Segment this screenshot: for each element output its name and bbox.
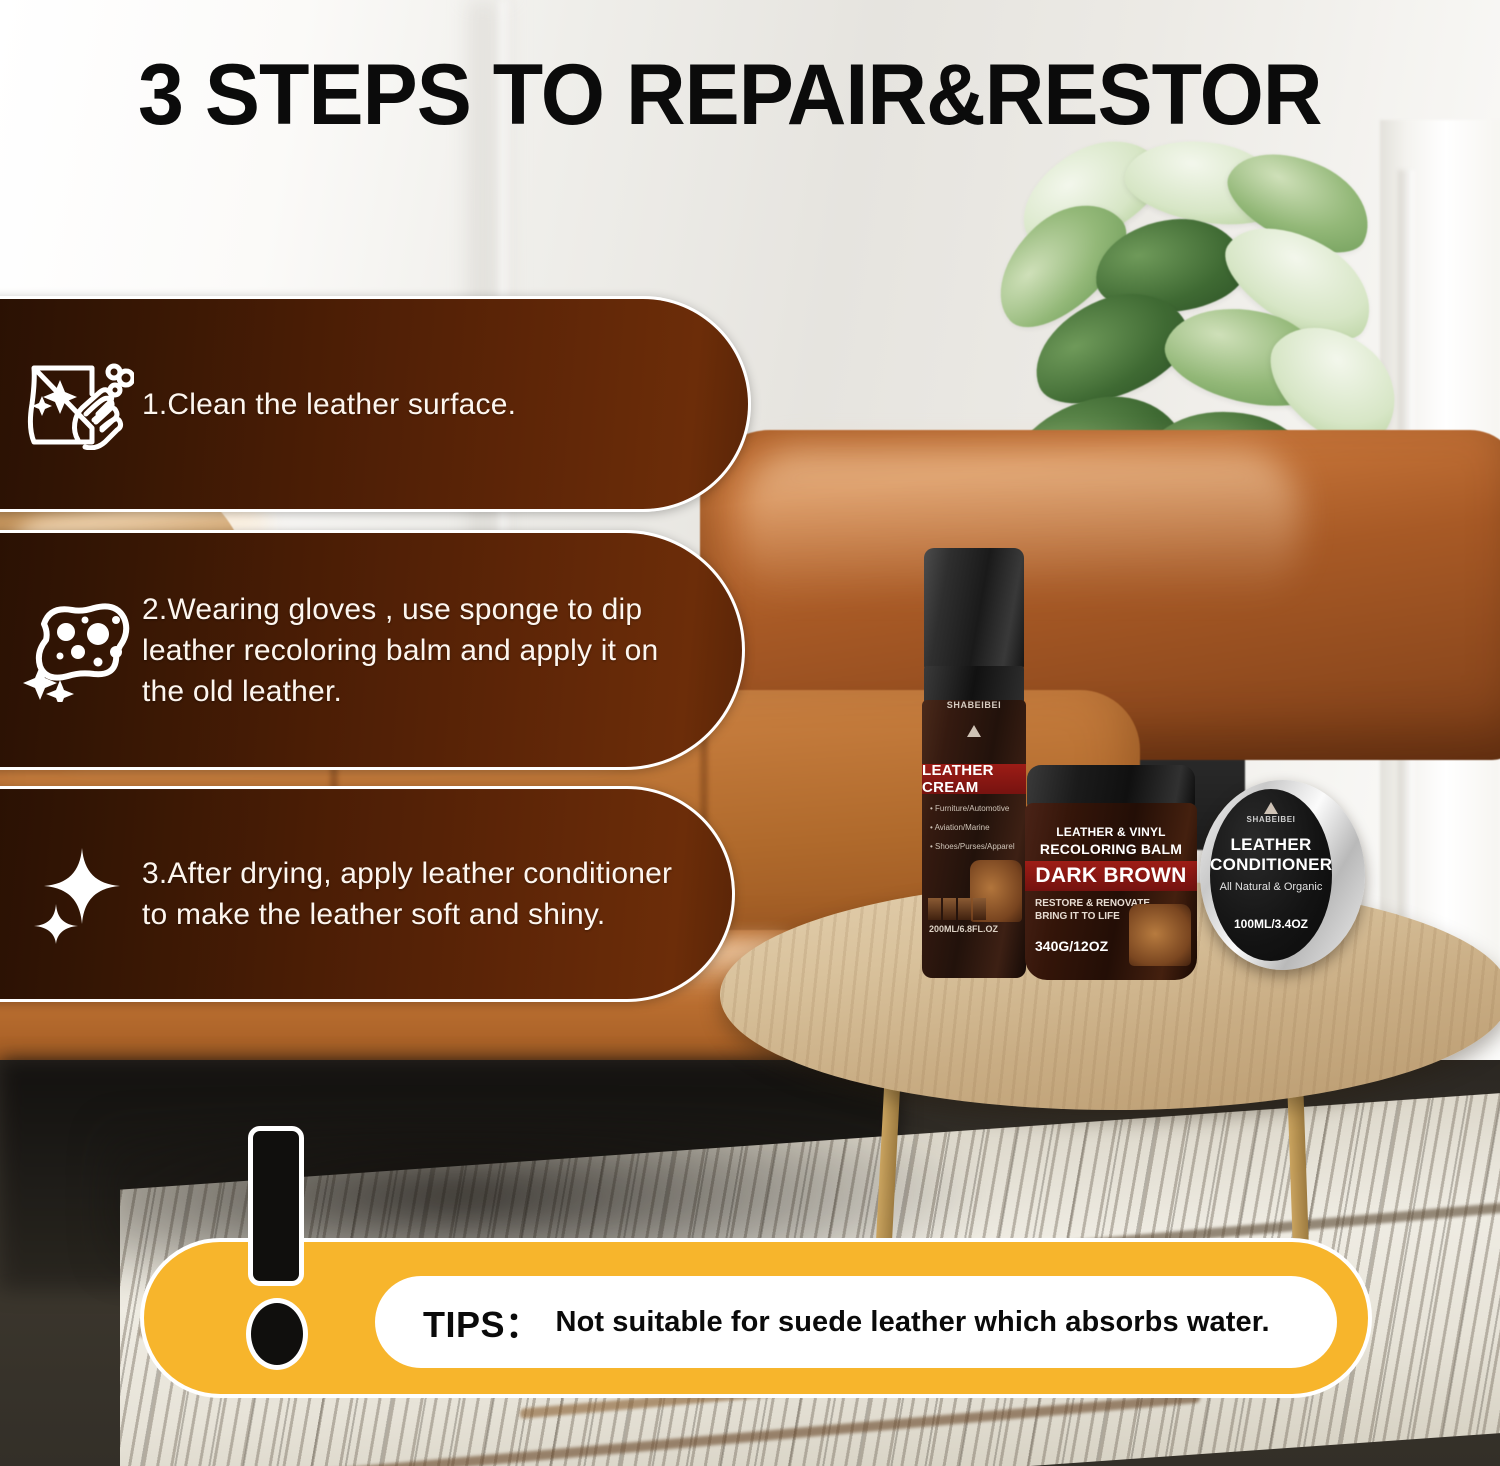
bottle-bullet: • Aviation/Marine	[930, 823, 1015, 832]
tin-name-line-1: LEATHER	[1210, 835, 1332, 855]
jar-line-1: LEATHER & VINYL	[1025, 825, 1197, 839]
jar-color-name: DARK BROWN	[1035, 864, 1186, 888]
step-3-text: 3.After drying, apply leather conditione…	[142, 853, 732, 935]
tips-label: TIPS：	[423, 1296, 542, 1348]
tin-name-line-2: CONDITIONER	[1210, 855, 1332, 875]
product-leather-conditioner-tin: SHABEIBEI LEATHER CONDITIONER All Natura…	[1200, 780, 1365, 970]
product-leather-cream-bottle: SHABEIBEI LEATHER CREAM • Furniture/Auto…	[918, 548, 1030, 978]
tips-bar: TIPS： Not suitable for suede leather whi…	[140, 1238, 1372, 1398]
bottle-bullet-list: • Furniture/Automotive • Aviation/Marine…	[930, 804, 1015, 861]
tin-subtitle: All Natural & Organic	[1210, 881, 1332, 893]
tips-section: TIPS： Not suitable for suede leather whi…	[140, 1126, 1372, 1398]
bottle-brand: SHABEIBEI	[922, 700, 1026, 710]
bottle-cap	[924, 548, 1024, 670]
jar-body: LEATHER & VINYL RECOLORING BALM DARK BRO…	[1025, 803, 1197, 980]
sparkles-icon	[14, 842, 142, 946]
wiping-hand-cloth-icon	[14, 358, 142, 450]
bottle-body: SHABEIBEI LEATHER CREAM • Furniture/Auto…	[922, 700, 1026, 978]
tips-inner-box: TIPS： Not suitable for suede leather whi…	[375, 1276, 1337, 1368]
bottle-bullet: • Furniture/Automotive	[930, 804, 1015, 813]
step-panel-1: 1.Clean the leather surface.	[0, 296, 751, 512]
step-panel-3: 3.After drying, apply leather conditione…	[0, 786, 735, 1002]
jar-color-band: DARK BROWN	[1025, 861, 1197, 891]
exclamation-dot	[246, 1298, 308, 1370]
bottle-neck	[924, 666, 1024, 704]
bottle-bullet: • Shoes/Purses/Apparel	[930, 842, 1015, 851]
infographic-canvas: SHABEIBEI LEATHER CREAM • Furniture/Auto…	[0, 0, 1500, 1466]
jar-armchair-image	[1129, 904, 1191, 966]
tin-volume: 100ML/3.4OZ	[1210, 917, 1332, 931]
tin-label-face: SHABEIBEI LEATHER CONDITIONER All Natura…	[1210, 789, 1332, 961]
exclamation-bar	[248, 1126, 304, 1286]
bottle-thumbnail-strip	[928, 898, 986, 920]
bottle-volume: 200ML/6.8FL.OZ	[929, 924, 998, 934]
step-2-text: 2.Wearing gloves , use sponge to dip lea…	[142, 589, 742, 712]
tin-brand: SHABEIBEI	[1210, 815, 1332, 824]
jar-line-2: RECOLORING BALM	[1025, 841, 1197, 857]
jar-weight: 340G/12OZ	[1035, 938, 1108, 954]
product-recoloring-balm-jar: LEATHER & VINYL RECOLORING BALM DARK BRO…	[1025, 765, 1197, 980]
tips-text: Not suitable for suede leather which abs…	[556, 1306, 1270, 1339]
bottle-name-band: LEATHER CREAM	[922, 764, 1026, 794]
step-1-text: 1.Clean the leather surface.	[142, 384, 556, 425]
step-panel-2: 2.Wearing gloves , use sponge to dip lea…	[0, 530, 745, 770]
sponge-icon	[14, 598, 142, 702]
brand-logo-icon	[922, 724, 1026, 742]
bottle-product-name: LEATHER CREAM	[922, 762, 1026, 796]
exclamation-mark-icon	[240, 1126, 314, 1370]
page-title: 3 STEPS TO REPAIR&RESTOR	[138, 46, 1322, 145]
